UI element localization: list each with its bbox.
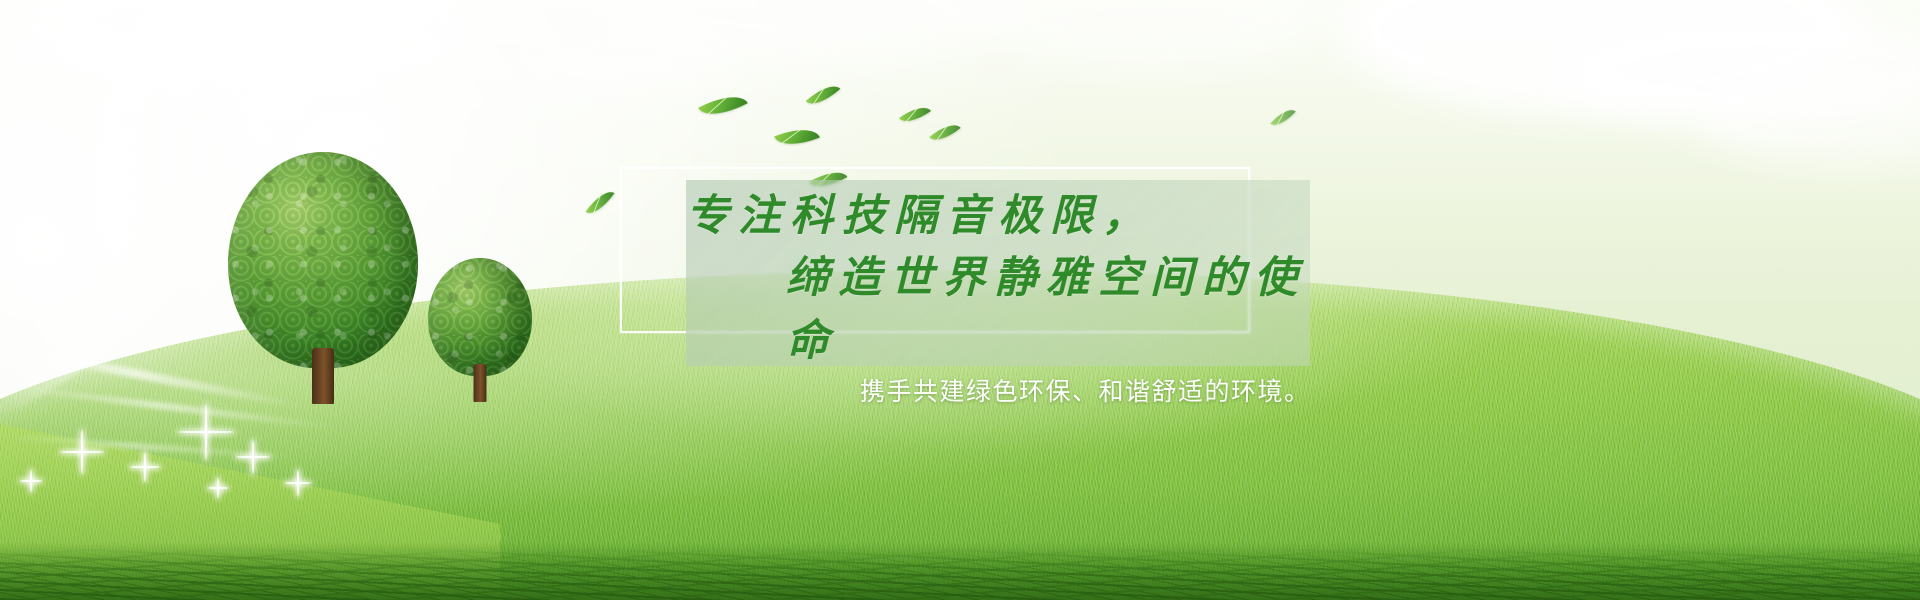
foliage-texture bbox=[428, 258, 532, 376]
foliage-texture bbox=[228, 152, 418, 368]
cloud-icon bbox=[520, 40, 740, 94]
headline-line-2: 缔造世界静雅空间的使命 bbox=[620, 248, 1320, 373]
subtitle-text: 携手共建绿色环保、和谐舒适的环境。 bbox=[860, 372, 1311, 408]
tree-trunk bbox=[474, 364, 487, 402]
grass-blades bbox=[0, 548, 1920, 600]
eco-banner: 专注科技隔音极限， 缔造世界静雅空间的使命 携手共建绿色环保、和谐舒适的环境。 bbox=[0, 0, 1920, 600]
tree-canopy bbox=[428, 258, 532, 376]
headline: 专注科技隔音极限， 缔造世界静雅空间的使命 bbox=[620, 186, 1320, 356]
small-tree bbox=[428, 258, 532, 400]
tree-trunk bbox=[312, 348, 334, 404]
large-tree bbox=[228, 152, 418, 400]
tree-canopy bbox=[228, 152, 418, 368]
headline-line-1: 专注科技隔音极限， bbox=[620, 186, 1320, 248]
